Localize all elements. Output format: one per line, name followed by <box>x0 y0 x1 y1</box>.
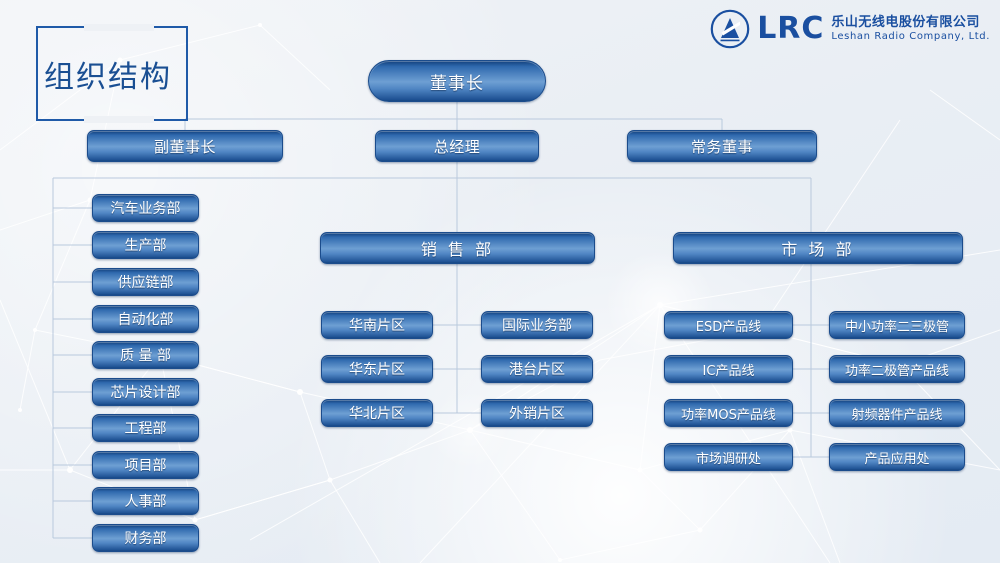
node-production[interactable]: 生产部 <box>92 231 199 259</box>
node-supply-chain[interactable]: 供应链部 <box>92 268 199 296</box>
node-power-diode-product-line[interactable]: 功率二极管产品线 <box>829 355 965 383</box>
node-south-china-region[interactable]: 华南片区 <box>321 311 433 339</box>
node-product-application-office[interactable]: 产品应用处 <box>829 443 965 471</box>
logo-company-name-en: Leshan Radio Company, Ltd. <box>831 31 990 43</box>
node-market-research-office[interactable]: 市场调研处 <box>664 443 793 471</box>
node-engineering[interactable]: 工程部 <box>92 414 199 442</box>
node-east-china-region[interactable]: 华东片区 <box>321 355 433 383</box>
node-auto-business[interactable]: 汽车业务部 <box>92 194 199 222</box>
node-finance[interactable]: 财务部 <box>92 524 199 552</box>
node-hk-tw-region[interactable]: 港台片区 <box>481 355 593 383</box>
node-export-region[interactable]: 外销片区 <box>481 399 593 427</box>
node-power-mos-product-line[interactable]: 功率MOS产品线 <box>664 399 793 427</box>
org-chart-slide: 组织结构 LRC 乐山无线电股份有限公司 Leshan Radio Compan… <box>0 0 1000 563</box>
node-automation[interactable]: 自动化部 <box>92 305 199 333</box>
company-logo: LRC 乐山无线电股份有限公司 Leshan Radio Company, Lt… <box>710 7 990 51</box>
logo-company-name: 乐山无线电股份有限公司 Leshan Radio Company, Ltd. <box>831 15 990 43</box>
node-marketing-dept[interactable]: 市 场 部 <box>673 232 963 264</box>
node-chairman[interactable]: 董事长 <box>368 60 546 102</box>
node-sales-dept[interactable]: 销 售 部 <box>320 232 595 264</box>
node-general-manager[interactable]: 总经理 <box>375 130 539 162</box>
node-executive-director[interactable]: 常务董事 <box>627 130 817 162</box>
node-north-china-region[interactable]: 华北片区 <box>321 399 433 427</box>
node-rf-device-product-line[interactable]: 射频器件产品线 <box>829 399 965 427</box>
node-quality[interactable]: 质 量 部 <box>92 341 199 369</box>
node-esd-product-line[interactable]: ESD产品线 <box>664 311 793 339</box>
node-international-business[interactable]: 国际业务部 <box>481 311 593 339</box>
node-ic-product-line[interactable]: IC产品线 <box>664 355 793 383</box>
page-title: 组织结构 <box>44 52 172 96</box>
node-chip-design[interactable]: 芯片设计部 <box>92 378 199 406</box>
node-vice-chairman[interactable]: 副董事长 <box>87 130 283 162</box>
node-hr[interactable]: 人事部 <box>92 487 199 515</box>
node-small-medium-power-transistor[interactable]: 中小功率二三极管 <box>829 311 965 339</box>
logo-company-name-cn: 乐山无线电股份有限公司 <box>831 15 990 31</box>
node-project[interactable]: 项目部 <box>92 451 199 479</box>
logo-abbreviation: LRC <box>757 14 824 44</box>
lrc-triangle-logo-icon <box>710 9 750 49</box>
